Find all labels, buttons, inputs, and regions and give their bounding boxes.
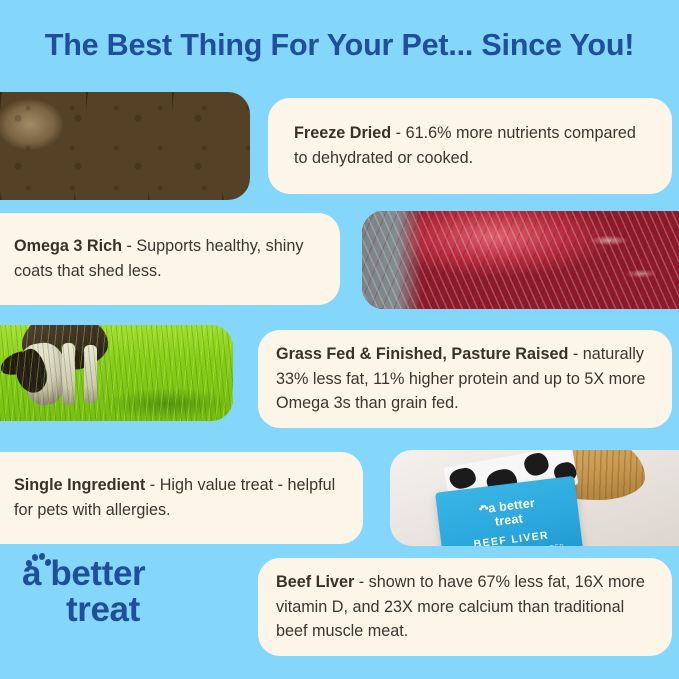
feature-separator: - [354, 573, 368, 591]
feature-label-beef-liver: Beef Liver [276, 573, 354, 591]
package-scene-image: a better treat BEEF LIVER FREEZE DRIED |… [390, 450, 679, 546]
feature-text-beef-liver: Beef Liver - shown to have 67% less fat,… [276, 570, 654, 644]
feature-separator: - [391, 124, 405, 142]
raw-beef-meat-photo [362, 211, 679, 309]
cow-patch-shape [12, 346, 50, 395]
header: The Best Thing For Your Pet... Since You… [0, 0, 679, 90]
feature-card-freeze-dried: Freeze Dried - 61.6% more nutrients comp… [268, 98, 672, 194]
product-package-photo: a better treat BEEF LIVER FREEZE DRIED |… [390, 450, 679, 546]
feature-text-freeze-dried: Freeze Dried - 61.6% more nutrients comp… [294, 121, 646, 170]
brand-logo: a better treat [22, 556, 252, 629]
feature-label-single-ingredient: Single Ingredient [14, 476, 145, 494]
brand-line-2: treat [66, 592, 252, 628]
raw-meat-image [362, 211, 679, 309]
cow-leg-shape [62, 343, 75, 405]
grazing-cow-photo [0, 325, 233, 421]
cow-pasture-image [0, 325, 233, 421]
infographic-page: The Best Thing For Your Pet... Since You… [0, 0, 679, 679]
treat-cubes-image [0, 92, 250, 200]
feature-label-omega-3-rich: Omega 3 Rich [14, 237, 122, 255]
feature-separator: - [568, 345, 582, 363]
feature-text-grass-fed: Grass Fed & Finished, Pasture Raised - n… [276, 342, 654, 416]
cow-head-shape [15, 340, 70, 408]
feature-label-freeze-dried: Freeze Dried [294, 124, 391, 142]
brand-line-1-wrapper: a better [22, 556, 252, 592]
cow-leg-shape [84, 345, 97, 403]
feature-card-single-ingredient: Single Ingredient - High value treat - h… [0, 452, 363, 544]
feature-text-single-ingredient: Single Ingredient - High value treat - h… [14, 473, 349, 522]
feature-card-grass-fed: Grass Fed & Finished, Pasture Raised - n… [258, 330, 672, 428]
freeze-dried-treat-cubes-photo [0, 92, 250, 200]
feature-card-beef-liver: Beef Liver - shown to have 67% less fat,… [258, 558, 672, 656]
cow-ear-left-shape [0, 348, 36, 378]
feature-label-grass-fed: Grass Fed & Finished, Pasture Raised [276, 345, 568, 363]
feature-text-omega-3-rich: Omega 3 Rich - Supports healthy, shiny c… [14, 234, 326, 283]
feature-separator: - [145, 476, 159, 494]
feature-separator: - [122, 237, 136, 255]
page-title: The Best Thing For Your Pet... Since You… [45, 28, 634, 63]
cow-body-shape [22, 325, 108, 367]
paw-print-icon [479, 505, 488, 513]
paw-print-icon [26, 553, 50, 568]
cow-ear-right-shape [54, 345, 90, 373]
feature-card-omega-3-rich: Omega 3 Rich - Supports healthy, shiny c… [0, 213, 340, 305]
package-logo-line2: treat [494, 511, 524, 528]
